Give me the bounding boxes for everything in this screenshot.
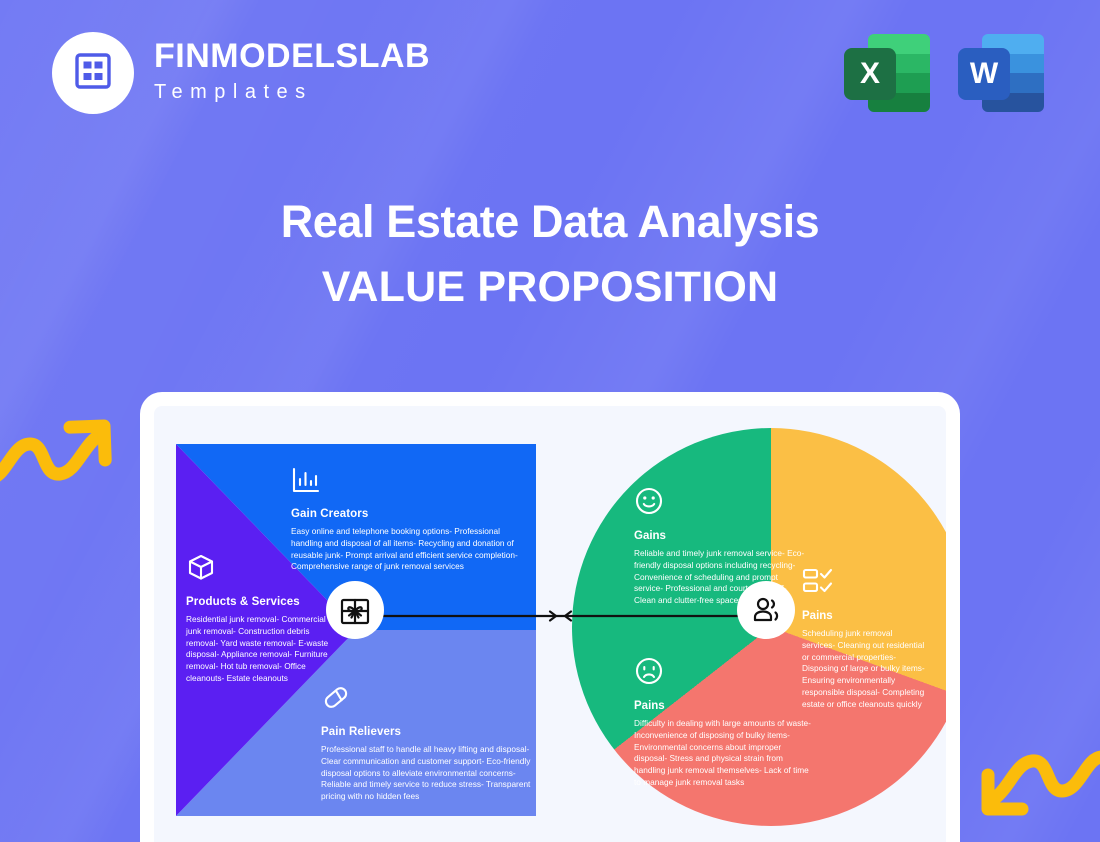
segment-pain-relievers[interactable]: Pain Relievers Professional staff to han… xyxy=(321,682,531,803)
segment-body: Professional staff to handle all heavy l… xyxy=(321,744,531,803)
slide-canvas: FINMODELSLAB Templates X W Real E xyxy=(0,0,1100,842)
device-frame: Gain Creators Easy online and telephone … xyxy=(140,392,960,842)
segment-title: Gain Creators xyxy=(291,508,519,520)
segment-title: Gains xyxy=(634,530,806,542)
checklist-icon xyxy=(802,566,927,601)
word-letter: W xyxy=(958,48,1010,100)
pill-icon xyxy=(321,682,531,717)
smiley-face-icon xyxy=(634,486,806,521)
box-icon xyxy=(186,552,334,587)
segment-title: Pain Relievers xyxy=(321,726,531,738)
segment-products-services[interactable]: Products & Services Residential junk rem… xyxy=(186,552,334,685)
segment-body: Scheduling junk removal services- Cleani… xyxy=(802,628,927,710)
segment-body: Residential junk removal- Commercial jun… xyxy=(186,614,334,685)
logo-badge xyxy=(52,32,134,114)
excel-letter: X xyxy=(844,48,896,100)
segment-pains[interactable]: Pains Difficulty in dealing with large a… xyxy=(634,656,814,789)
gift-package-icon[interactable] xyxy=(326,581,384,639)
excel-icon: X xyxy=(844,26,930,112)
page-title: Real Estate Data Analysis xyxy=(0,196,1100,248)
brand-name: FINMODELSLAB xyxy=(154,39,430,75)
people-users-icon[interactable] xyxy=(737,581,795,639)
brand-logo: FINMODELSLAB Templates xyxy=(52,32,430,114)
segment-body: Difficulty in dealing with large amounts… xyxy=(634,718,814,789)
segment-customer-jobs[interactable]: Pains Scheduling junk removal services- … xyxy=(802,566,927,710)
segment-title: Pains xyxy=(634,700,814,712)
squiggly-arrow-up-right-icon xyxy=(0,404,116,495)
squiggly-arrow-down-left-icon xyxy=(976,745,1100,836)
grid-squares-icon xyxy=(71,49,115,98)
segment-title: Pains xyxy=(802,610,927,622)
segment-title: Products & Services xyxy=(186,596,334,608)
double-headed-arrow-icon xyxy=(382,609,739,612)
title-block: Real Estate Data Analysis VALUE PROPOSIT… xyxy=(0,196,1100,311)
office-app-icons: X W xyxy=(844,26,1044,112)
page-subtitle: VALUE PROPOSITION xyxy=(0,264,1100,311)
sad-face-icon xyxy=(634,656,814,691)
brand-subtitle: Templates xyxy=(154,77,430,107)
word-icon: W xyxy=(958,26,1044,112)
device-screen: Gain Creators Easy online and telephone … xyxy=(154,406,946,842)
bar-chart-icon xyxy=(291,466,519,499)
